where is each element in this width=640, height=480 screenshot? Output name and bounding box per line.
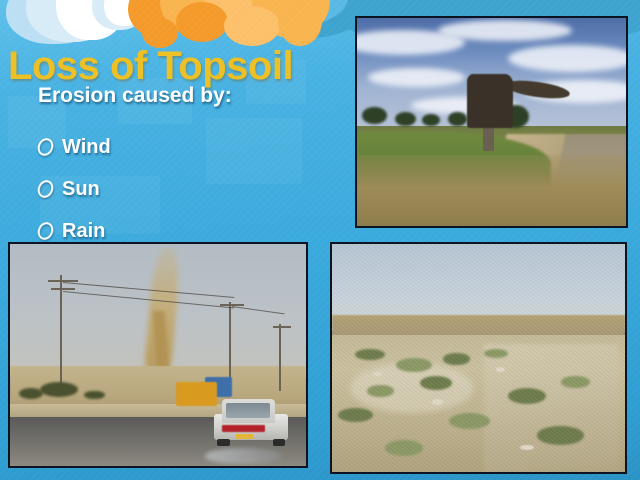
cloud [508, 45, 628, 72]
bullet-list: Wind Sun Rain [38, 126, 308, 252]
list-item: Wind [38, 126, 308, 168]
list-item-label: Wind [62, 136, 111, 159]
cloud [368, 68, 465, 87]
orange-scallop [176, 2, 228, 42]
road-reflection [205, 448, 282, 464]
orange-scallop [224, 6, 280, 46]
roadside-bush [40, 382, 78, 398]
oval-bullet-icon [35, 178, 56, 201]
oval-bullet-icon [35, 136, 56, 159]
oval-bullet-icon [35, 220, 56, 243]
isuzu-badge [222, 425, 265, 431]
page-title: Loss of Topsoil [8, 44, 293, 89]
photo-content [10, 244, 306, 466]
tree-stump [467, 74, 513, 128]
presentation-slide: Loss of Topsoil Erosion caused by: Wind … [0, 0, 640, 480]
dry-grass-foreground [357, 155, 626, 226]
power-pole [60, 275, 62, 395]
distant-tree [362, 107, 386, 124]
list-item-label: Rain [62, 220, 105, 243]
photo-grain [332, 244, 625, 472]
rear-window [226, 403, 270, 418]
power-pole-crossarm [273, 326, 291, 328]
photo-content [332, 244, 625, 472]
list-item-label: Sun [62, 178, 100, 201]
isuzu-pickup-truck [214, 399, 288, 446]
license-plate [236, 434, 252, 438]
photo-arid-eroded-land [330, 242, 627, 474]
photo-content [357, 18, 626, 226]
tire [217, 439, 230, 446]
photo-dust-devil-road [8, 242, 308, 468]
subtitle: Erosion caused by: [38, 84, 232, 108]
power-pole [279, 324, 281, 391]
roadside-bush [84, 391, 105, 400]
list-item: Sun [38, 168, 308, 210]
distant-tree [395, 112, 417, 127]
yellow-loader [176, 382, 217, 406]
photo-tree-stump-riverbank [355, 16, 628, 228]
tire [273, 439, 286, 446]
cloud [438, 20, 573, 41]
